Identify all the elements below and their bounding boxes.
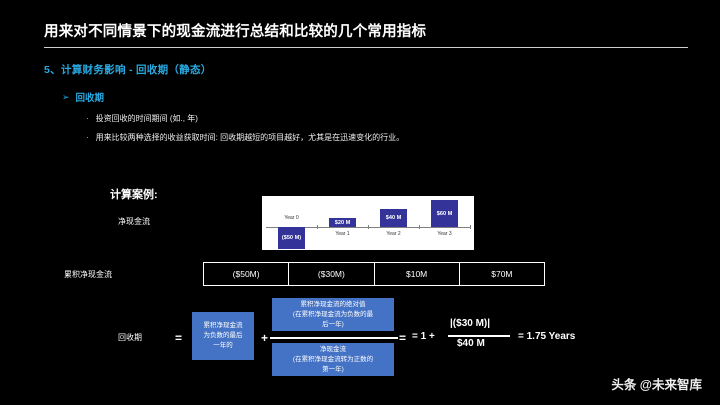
formula-box-line: 累积净现金流的绝对值 xyxy=(293,300,373,310)
formula-box-line: (在累积净现金流转为正数的 xyxy=(293,355,373,365)
formula-equals: = xyxy=(175,331,182,345)
bullet-level1-label: 回收期 xyxy=(76,90,105,104)
slide-root: 用来对不同情景下的现金流进行总结和比较的几个常用指标 5、计算财务影响 - 回收… xyxy=(0,0,720,405)
result-fraction-bar xyxy=(448,335,510,337)
formula-box-line: 累积净现金流 xyxy=(204,321,243,331)
formula-box-line: 一年的 xyxy=(204,341,243,351)
chart-tick xyxy=(317,225,318,229)
page-title: 用来对不同情景下的现金流进行总结和比较的几个常用指标 xyxy=(44,20,684,41)
result-one-plus: = 1 + xyxy=(412,331,435,342)
cumulative-cash-flow-table: ($50M)($30M)$10M$70M xyxy=(203,262,545,286)
formula-box-line: 后一年) xyxy=(293,320,373,330)
bullet-level2-2: · 用来比较两种选择的收益获取时间: 回收期越短的项目越好，尤其是在迅速变化的行… xyxy=(86,131,404,144)
result-value: = 1.75 Years xyxy=(518,331,575,342)
cumulative-cell-0: ($50M) xyxy=(204,263,289,285)
formula-plus: + xyxy=(261,331,268,345)
formula-result-expression: = 1 + |($30 M)| $40 M = 1.75 Years xyxy=(412,316,612,360)
bullet-level2-1: · 投资回收的时间期间 (如., 年) xyxy=(86,112,198,125)
bar-year-2: $40 M xyxy=(380,209,407,227)
formula-box-line: (在累积净现金流为负数的最 xyxy=(293,310,373,320)
cumulative-cell-2: $10M xyxy=(375,263,460,285)
formula-box-line: 第一年) xyxy=(293,365,373,375)
formula-box-line: 净现金流 xyxy=(293,345,373,355)
chart-tick xyxy=(368,225,369,229)
cumulative-cell-1: ($30M) xyxy=(289,263,374,285)
formula-box-denominator: 净现金流(在累积净现金流转为正数的第一年) xyxy=(272,343,394,376)
arrow-icon: ➢ xyxy=(62,93,70,102)
bullet-level1: ➢ 回收期 xyxy=(62,90,104,104)
bullet-dot-icon: · xyxy=(86,112,89,125)
bullet-level2-2-label: 用来比较两种选择的收益获取时间: 回收期越短的项目越好，尤其是在迅速变化的行业。 xyxy=(96,131,404,144)
chart-tick xyxy=(470,225,471,229)
cumulative-cell-3: $70M xyxy=(460,263,544,285)
formula-box-line: 为负数的最后 xyxy=(204,331,243,341)
chart-xtick-year-0: Year 0 xyxy=(266,215,317,221)
bar-year-0: ($50 M) xyxy=(278,227,305,249)
bar-year-1: $20 M xyxy=(329,218,356,227)
example-heading: 计算案例: xyxy=(110,186,158,202)
result-numerator: |($30 M)| xyxy=(450,318,490,329)
formula-box-numerator: 累积净现金流的绝对值(在累积净现金流为负数的最后一年) xyxy=(272,298,394,331)
label-payback-period: 回收期 xyxy=(118,332,142,343)
net-cash-flow-bar-chart: ($50 M)Year 0$20 MYear 1$40 MYear 2$60 M… xyxy=(262,196,474,250)
result-denominator: $40 M xyxy=(457,338,485,349)
section-heading: 5、计算财务影响 - 回收期（静态） xyxy=(44,62,212,77)
bullet-level2-1-label: 投资回收的时间期间 (如., 年) xyxy=(96,112,198,125)
bar-year-3: $60 M xyxy=(431,200,458,227)
label-net-cash-flow: 净现金流 xyxy=(118,216,150,227)
label-cumulative-cash-flow: 累积净现金流 xyxy=(64,269,112,280)
chart-xtick-year-2: Year 2 xyxy=(368,231,419,237)
bullet-dot-icon: · xyxy=(86,131,89,144)
formula-box-last-negative-year: 累积净现金流为负数的最后一年的 xyxy=(192,312,254,360)
chart-xtick-year-1: Year 1 xyxy=(317,231,368,237)
chart-xtick-year-3: Year 3 xyxy=(419,231,470,237)
chart-tick xyxy=(419,225,420,229)
watermark: 头条 @未来智库 xyxy=(611,374,702,393)
title-divider xyxy=(44,47,688,48)
formula-equals-2: = xyxy=(399,331,406,345)
formula-fraction-bar xyxy=(270,337,398,339)
